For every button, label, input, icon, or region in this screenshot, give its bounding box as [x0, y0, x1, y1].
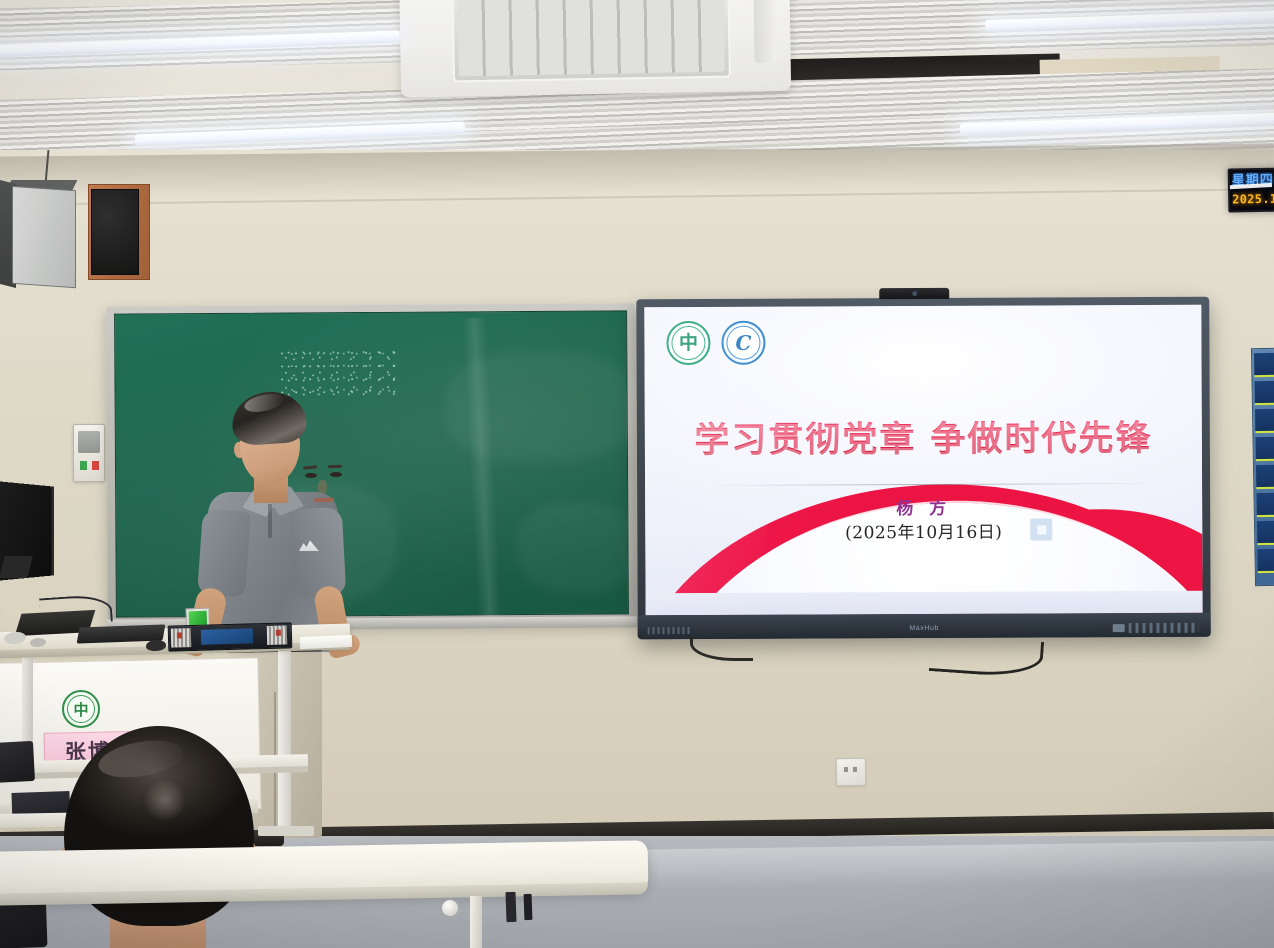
- eyebrow-right: [328, 465, 342, 469]
- led-clock-display: 星期四 2025.10.: [1228, 167, 1274, 212]
- bulletin-item: [1255, 409, 1274, 433]
- mouth: [314, 498, 334, 503]
- ac-side-vent: [753, 0, 776, 63]
- bulletin-item: [1257, 549, 1274, 573]
- wall-speaker-wood: [88, 184, 150, 280]
- chalkboard-smudge: [516, 501, 637, 592]
- ceiling-cassette-air-conditioner: [399, 0, 791, 97]
- bulletin-item: [1255, 437, 1274, 461]
- student-hair-whorl: [140, 780, 190, 820]
- bulletin-item: [1256, 493, 1274, 517]
- podium-foot: [258, 826, 314, 836]
- emblem-glyph: 中: [668, 323, 708, 363]
- university-emblem-green-icon: 中: [666, 321, 710, 365]
- slide-watermark-icon: [1030, 518, 1052, 540]
- ac-vanes: [457, 0, 724, 76]
- slide-bottom-strip: [646, 591, 1203, 615]
- slide-logo-group: 中 C: [666, 321, 765, 365]
- desk-height-knob[interactable]: [442, 900, 458, 916]
- slide-title: 学习贯彻党章 争做时代先锋: [645, 410, 1202, 463]
- control-panel-screen: [78, 431, 100, 453]
- display-right-vent: [1129, 623, 1199, 633]
- amp-knob-right[interactable]: [276, 630, 281, 636]
- control-panel-led-red: [92, 461, 99, 470]
- student-chair: [0, 741, 35, 783]
- presenter-sleeve-left: [197, 508, 251, 597]
- wall-power-outlet[interactable]: [836, 758, 866, 787]
- speaker-grille-face: [12, 186, 76, 288]
- polo-placket: [268, 504, 272, 538]
- seated-student-foreground: [64, 726, 254, 948]
- display-button[interactable]: [1113, 624, 1125, 632]
- slide-presenter-name: 杨 方: [645, 493, 1202, 520]
- institute-emblem-blue-icon: C: [721, 321, 765, 365]
- bulletin-item: [1255, 381, 1274, 405]
- classroom-photo: 星期四 2025.10.: [0, 0, 1274, 948]
- amplifier-control-box[interactable]: [168, 622, 293, 651]
- amp-knob-left[interactable]: [177, 632, 182, 638]
- wall-control-panel[interactable]: [73, 424, 105, 482]
- podium-leg-right: [278, 650, 291, 835]
- bulletin-board-strip: [1251, 348, 1274, 586]
- presentation-slide: 中 C 学习贯彻党章 争做时代先锋 杨 方 (2025年10月16日): [644, 305, 1202, 615]
- bulletin-item: [1254, 353, 1274, 377]
- outlet-slot-left: [844, 767, 848, 772]
- amp-display: [201, 628, 253, 644]
- desk-bracket: [505, 892, 516, 922]
- bulletin-item: [1257, 521, 1274, 545]
- led-clock-date: 2025.10.: [1232, 190, 1274, 209]
- desk-bracket: [524, 894, 533, 920]
- wall-monitor-stand: [0, 556, 33, 578]
- school-emblem-icon: 中: [62, 690, 100, 728]
- papers: [300, 635, 352, 649]
- slide-date: (2025年10月16日): [645, 517, 1202, 544]
- wall-speaker-grey: [0, 182, 82, 286]
- chalk-dust-marks: [280, 349, 395, 398]
- display-left-vent: [648, 627, 690, 634]
- nose: [318, 480, 327, 494]
- control-panel-led-green: [80, 461, 87, 470]
- camera-lens-icon: [912, 291, 917, 296]
- presenter-sleeve-right: [294, 507, 347, 597]
- ac-vent-panel: [451, 0, 731, 82]
- outlet-slot-right: [853, 767, 857, 772]
- emblem-glyph: 中: [64, 692, 98, 726]
- desk-leg: [470, 896, 482, 948]
- smart-interactive-display[interactable]: 中 C 学习贯彻党章 争做时代先锋 杨 方 (2025年10月16日) MaxH…: [636, 297, 1210, 639]
- display-brand-label: MaxHub: [909, 625, 939, 632]
- emblem-glyph: C: [723, 323, 763, 363]
- eye-right: [330, 472, 342, 477]
- green-indicator-panel: [189, 611, 207, 626]
- display-panel[interactable]: 中 C 学习贯彻党章 争做时代先锋 杨 方 (2025年10月16日): [644, 305, 1202, 615]
- eye-left: [305, 473, 317, 478]
- bulletin-item: [1256, 465, 1274, 489]
- speaker-mesh-grille: [91, 189, 139, 275]
- eyebrow-left: [303, 465, 317, 469]
